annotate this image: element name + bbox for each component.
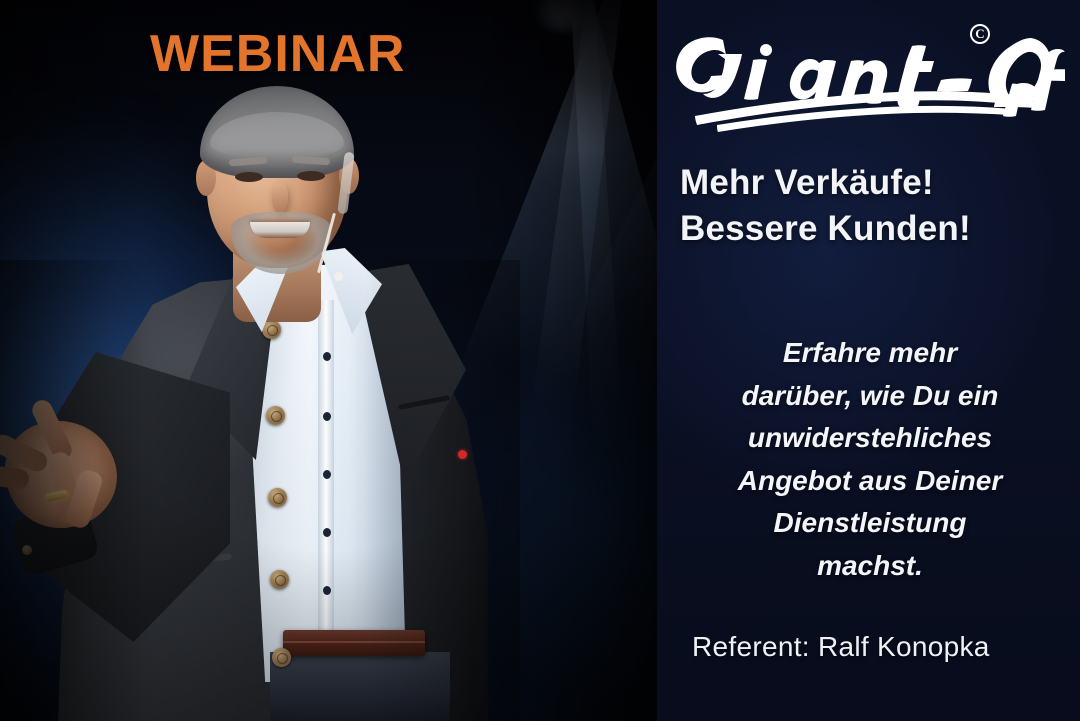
subcopy-line-2: darüber, wie Du ein [675, 375, 1065, 418]
webinar-eyebrow-label: WEBINAR [150, 24, 405, 84]
subcopy-line-3: unwiderstehliches [675, 417, 1065, 460]
photo-vignette [0, 0, 657, 721]
subcopy-line-6: machst. [675, 545, 1065, 588]
subcopy-line-1: Erfahre mehr [675, 332, 1065, 375]
subcopy-line-5: Dienstleistung [675, 502, 1065, 545]
stage-photo-pane: WEBINAR [0, 0, 657, 721]
giant-offer-tail-and-swoosh-icon [665, 24, 1065, 134]
headline-line-1: Mehr Verkäufe! [680, 160, 1080, 206]
giant-offer-logo: C [657, 18, 1080, 138]
subcopy: Erfahre mehr darüber, wie Du ein unwider… [675, 332, 1065, 587]
headline: Mehr Verkäufe! Bessere Kunden! [680, 160, 1080, 251]
copyright-icon: C [970, 24, 990, 44]
recording-dot-icon [458, 450, 467, 459]
headline-line-2: Bessere Kunden! [680, 206, 1080, 252]
webinar-banner: WEBINAR [0, 0, 1080, 721]
subcopy-line-4: Angebot aus Deiner [675, 460, 1065, 503]
speaker-credit: Referent: Ralf Konopka [692, 631, 1072, 663]
copy-pane: C Mehr Verkäufe! Bessere Kunden! Erfahre… [657, 0, 1080, 721]
